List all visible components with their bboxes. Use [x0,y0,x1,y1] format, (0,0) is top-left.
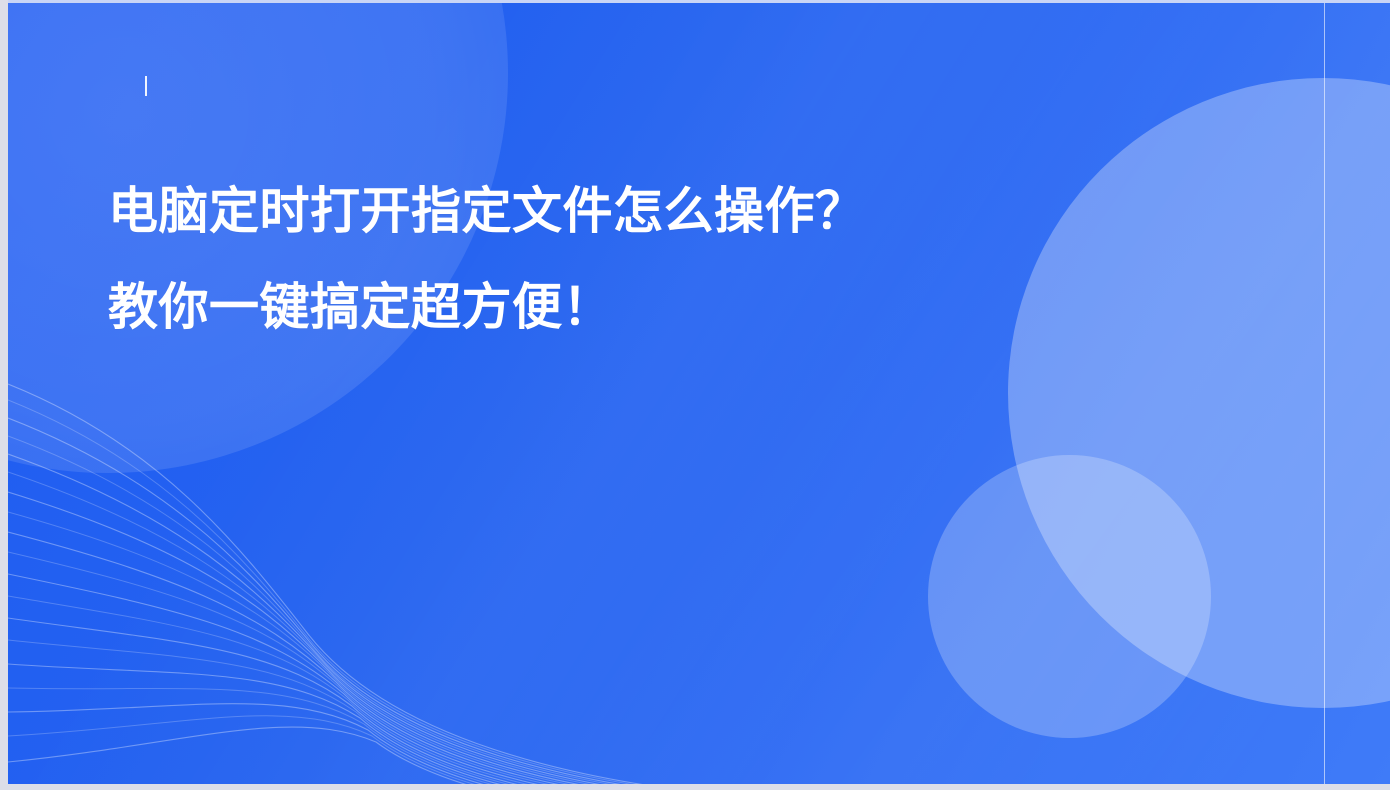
text-caret [145,76,147,96]
page-edge-bottom [0,784,1390,790]
slide-canvas: 电脑定时打开指定文件怎么操作？教你一键搞定超方便！ [8,3,1390,784]
page-edge-top [0,0,1390,3]
slide-background [8,3,1390,784]
page-title: 电脑定时打开指定文件怎么操作？教你一键搞定超方便！ [108,163,898,355]
presentation-slide: 电脑定时打开指定文件怎么操作？教你一键搞定超方便！ [0,0,1390,790]
slide-title-block[interactable]: 电脑定时打开指定文件怎么操作？教你一键搞定超方便！ [108,163,898,355]
page-edge-left [0,0,8,790]
